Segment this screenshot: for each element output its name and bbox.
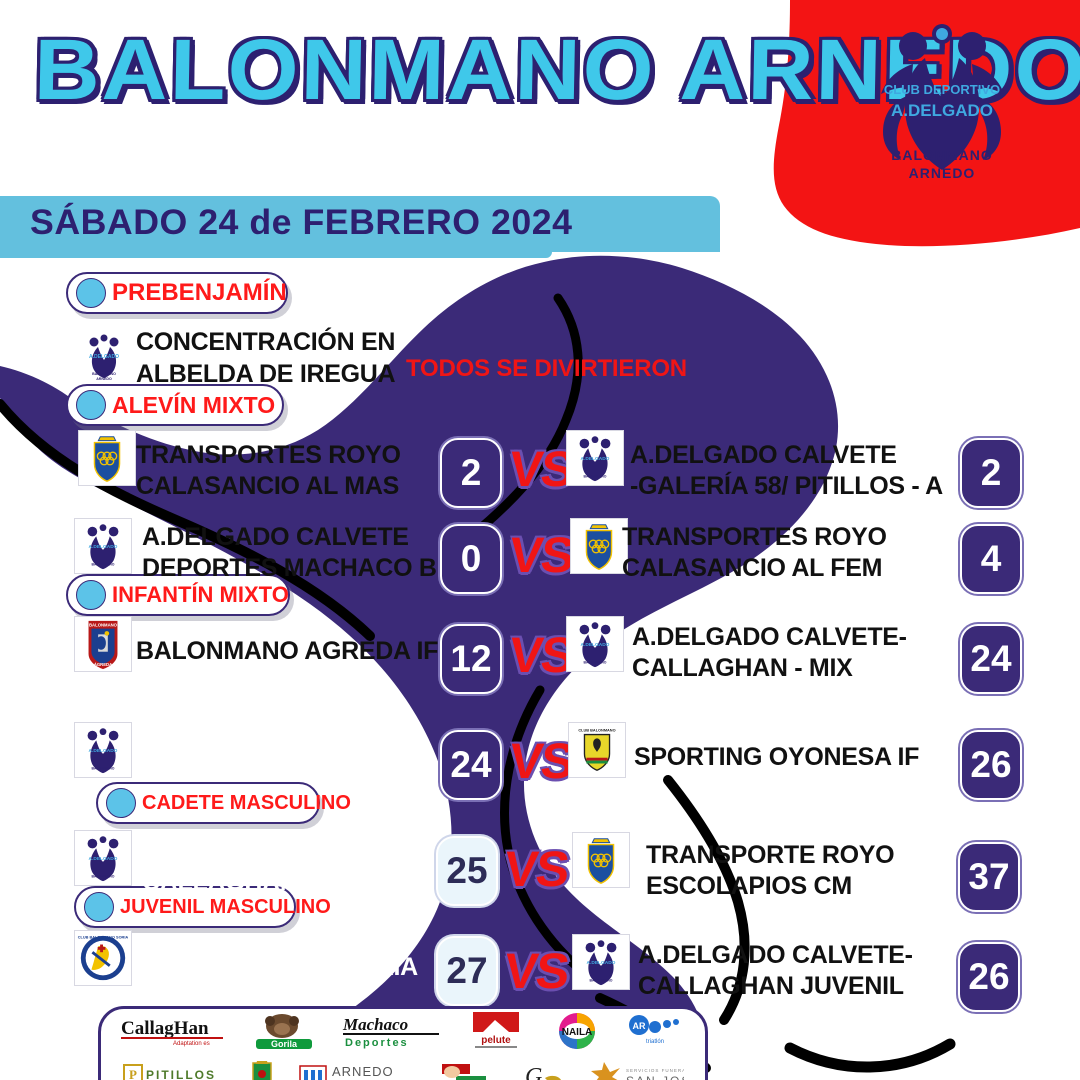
svg-text:Adaptation es: Adaptation es bbox=[173, 1041, 210, 1047]
svg-text:pelute: pelute bbox=[482, 1035, 512, 1046]
logo-a-delgado-crest: A.DELGADO BALONMANO ARNEDO bbox=[78, 330, 130, 382]
poster-title: BALONMANO ARNEDO bbox=[34, 22, 814, 122]
sponsor-strip: CallagHan Adaptation es Gorila Machaco bbox=[98, 1006, 708, 1080]
home-score: 2 bbox=[440, 438, 502, 508]
svg-text:BALONMANO: BALONMANO bbox=[92, 562, 115, 566]
sponsor-san-jose: SERVICIOS FUNERARIOS SAN JOSE bbox=[588, 1053, 684, 1080]
svg-text:CLUB BALONMANO: CLUB BALONMANO bbox=[578, 729, 615, 733]
home-team-name: C. BALONMANO SORIA bbox=[140, 952, 418, 983]
away-score: 26 bbox=[960, 730, 1022, 800]
svg-text:Machaco: Machaco bbox=[342, 1015, 408, 1034]
sponsor-naila: NAILA bbox=[546, 1009, 608, 1053]
category-alevin-mixto[interactable]: ALEVÍN MIXTO bbox=[66, 384, 284, 426]
svg-text:A.DELGADO: A.DELGADO bbox=[89, 544, 118, 550]
home-team-name: BALONMANO AGREDA IF bbox=[136, 636, 438, 667]
category-dot-icon bbox=[76, 278, 106, 308]
sponsor-row-1: CallagHan Adaptation es Gorila Machaco bbox=[101, 1009, 705, 1053]
sponsor-ar-triatlon: AR triatlón bbox=[625, 1009, 687, 1053]
sponsor-pitillos: P PITILLOS CALZADO DE ESPAÑA DESDE 1961 bbox=[122, 1053, 226, 1080]
vs-label: VS bbox=[502, 524, 581, 586]
logo-royo-calasancio-crest bbox=[78, 430, 136, 486]
logo-a-delgado-crest: A.DELGADO BALONMANO bbox=[74, 518, 132, 574]
away-team-name: A.DELGADO CALVETE- CALLAGHAN JUVENIL bbox=[638, 940, 913, 1002]
vs-label: VS bbox=[497, 940, 576, 1002]
logo-royo-calasancio-crest bbox=[570, 518, 628, 574]
club-line1: CLUB DEPORTIVO bbox=[884, 82, 1000, 97]
svg-text:G: G bbox=[525, 1064, 542, 1080]
club-logo: CLUB DEPORTIVO A.DELGADO BALONMANO ARNED… bbox=[855, 20, 1030, 190]
svg-text:A.DELGADO: A.DELGADO bbox=[581, 456, 610, 462]
category-label: ALEVÍN MIXTO bbox=[112, 392, 275, 419]
svg-text:ARNEDO: ARNEDO bbox=[96, 377, 112, 381]
match-row: CLUB BALONMANO SORIA C. BALONMANO SORIA … bbox=[0, 928, 1080, 1018]
svg-text:SAN JOSE: SAN JOSE bbox=[626, 1074, 684, 1080]
sponsor-machaco-deportes: Machaco Deportes bbox=[339, 1009, 447, 1053]
home-score: 12 bbox=[440, 624, 502, 694]
home-score: 0 bbox=[440, 524, 502, 594]
match-row: A.DELGADO BALONMANO A.DELGADO CALVETE - … bbox=[0, 718, 1080, 808]
category-label: PREBENJAMÍN bbox=[112, 279, 287, 307]
svg-text:A.DELGADO: A.DELGADO bbox=[89, 354, 119, 360]
match-row: BALONMANO ÁGREDA BALONMANO AGREDA IF 12 … bbox=[0, 612, 1080, 702]
svg-text:CallagHan: CallagHan bbox=[121, 1018, 209, 1039]
home-team-name: TRANSPORTES ROYO CALASANCIO AL MAS bbox=[136, 440, 401, 502]
logo-a-delgado-crest: A.DELGADO BALONMANO bbox=[74, 722, 132, 778]
sponsor-arnedo-escudo bbox=[247, 1053, 277, 1080]
svg-text:A.DELGADO: A.DELGADO bbox=[587, 960, 616, 966]
away-score: 37 bbox=[958, 842, 1020, 912]
away-score: 24 bbox=[960, 624, 1022, 694]
svg-text:SERVICIOS FUNERARIOS: SERVICIOS FUNERARIOS bbox=[626, 1068, 684, 1073]
home-team-name: A.DELGADO CALVETE DEPORTES MACHACO B bbox=[142, 522, 437, 584]
logo-balonmano-agreda-crest: BALONMANO ÁGREDA bbox=[74, 616, 132, 672]
sponsor-row-2: P PITILLOS CALZADO DE ESPAÑA DESDE 1961 bbox=[101, 1053, 705, 1080]
sponsor-arnedo-ayuntamiento: ARNEDO AYUNTAMIENTO bbox=[298, 1053, 416, 1080]
svg-text:BALONMANO: BALONMANO bbox=[92, 372, 116, 376]
svg-text:ARNEDO: ARNEDO bbox=[332, 1064, 394, 1079]
svg-text:P: P bbox=[129, 1067, 137, 1080]
poster-canvas: BALONMANO ARNEDO CLUB DEPORTIVO A.DELGAD… bbox=[0, 0, 1080, 1080]
svg-text:Gorila: Gorila bbox=[271, 1039, 298, 1049]
date-text: SÁBADO 24 de FEBRERO 2024 bbox=[30, 203, 572, 243]
svg-text:BALONMANO: BALONMANO bbox=[584, 474, 607, 478]
sponsor-g: G bbox=[521, 1053, 567, 1080]
vs-label: VS bbox=[497, 838, 576, 900]
svg-text:AR: AR bbox=[632, 1021, 645, 1031]
match-row: A.DELGADO BALONMANO A.DELGADO CALVETE DE… bbox=[0, 512, 1080, 602]
prebenjamin-note-text: CONCENTRACIÓN EN ALBELDA DE IREGUA bbox=[136, 326, 395, 390]
home-score: 27 bbox=[436, 936, 498, 1006]
club-line2: A.DELGADO bbox=[891, 101, 993, 120]
home-team-name: A. DELGADO CALVETE CALLAGHAN CM bbox=[142, 836, 415, 898]
logo-a-delgado-crest: A.DELGADO BALONMANO bbox=[566, 430, 624, 486]
logo-sporting-oyonesa-crest: CLUB BALONMANO bbox=[568, 722, 626, 778]
category-prebenjamin[interactable]: PREBENJAMÍN bbox=[66, 272, 288, 314]
svg-text:A.DELGADO: A.DELGADO bbox=[89, 748, 118, 754]
svg-text:A.DELGADO: A.DELGADO bbox=[89, 856, 118, 862]
sponsor-gorila: Gorila bbox=[248, 1009, 322, 1053]
svg-text:NAILA: NAILA bbox=[562, 1027, 593, 1038]
svg-text:BALONMANO: BALONMANO bbox=[89, 623, 118, 628]
logo-a-delgado-crest: A.DELGADO BALONMANO bbox=[572, 934, 630, 990]
sponsor-pelute: pelute bbox=[463, 1009, 529, 1053]
logo-balonmano-soria-crest: CLUB BALONMANO SORIA bbox=[74, 930, 132, 986]
match-row: A.DELGADO BALONMANO A. DELGADO CALVETE C… bbox=[0, 826, 1080, 916]
away-score: 4 bbox=[960, 524, 1022, 594]
svg-text:BALONMANO: BALONMANO bbox=[590, 978, 613, 982]
home-score: 25 bbox=[436, 836, 498, 906]
away-team-name: A.DELGADO CALVETE -GALERÍA 58/ PITILLOS … bbox=[630, 440, 943, 502]
svg-text:PITILLOS: PITILLOS bbox=[146, 1068, 216, 1080]
logo-royo-calasancio-crest bbox=[572, 832, 630, 888]
poster-title-text: BALONMANO ARNEDO bbox=[33, 22, 862, 118]
svg-text:ÁGREDA: ÁGREDA bbox=[94, 662, 112, 667]
home-team-name: A.DELGADO CALVETE - MOSAICOS PELUTE- Mx bbox=[136, 728, 422, 790]
black-arc-bottom-right bbox=[790, 1044, 950, 1067]
away-score: 26 bbox=[958, 942, 1020, 1012]
away-team-name: TRANSPORTES ROYO CALASANCIO AL FEM bbox=[622, 522, 887, 584]
svg-text:BALONMANO: BALONMANO bbox=[92, 874, 115, 878]
home-score: 24 bbox=[440, 730, 502, 800]
prebenjamin-note-extra: TODOS SE DIVIRTIERON bbox=[406, 355, 687, 383]
logo-a-delgado-crest: A.DELGADO BALONMANO bbox=[566, 616, 624, 672]
svg-text:A.DELGADO: A.DELGADO bbox=[581, 642, 610, 648]
category-dot-icon bbox=[76, 390, 106, 420]
away-score: 2 bbox=[960, 438, 1022, 508]
away-team-name: A.DELGADO CALVETE- CALLAGHAN - MIX bbox=[632, 622, 907, 684]
sponsor-la-rioja bbox=[438, 1053, 500, 1080]
club-line4: ARNEDO bbox=[909, 165, 976, 181]
logo-a-delgado-crest: A.DELGADO BALONMANO bbox=[74, 830, 132, 886]
svg-text:Deportes: Deportes bbox=[345, 1037, 409, 1049]
match-row: TRANSPORTES ROYO CALASANCIO AL MAS 2 VS … bbox=[0, 426, 1080, 516]
away-team-name: TRANSPORTE ROYO ESCOLAPIOS CM bbox=[646, 840, 894, 902]
away-team-name: SPORTING OYONESA IF bbox=[634, 742, 919, 773]
svg-text:CLUB BALONMANO SORIA: CLUB BALONMANO SORIA bbox=[78, 936, 129, 940]
sponsor-callaghan: CallagHan Adaptation es bbox=[119, 1009, 231, 1053]
svg-text:triatlón: triatlón bbox=[646, 1039, 664, 1045]
svg-text:BALONMANO: BALONMANO bbox=[584, 660, 607, 664]
club-line3: BALONMANO bbox=[891, 147, 993, 163]
svg-text:BALONMANO: BALONMANO bbox=[92, 766, 115, 770]
